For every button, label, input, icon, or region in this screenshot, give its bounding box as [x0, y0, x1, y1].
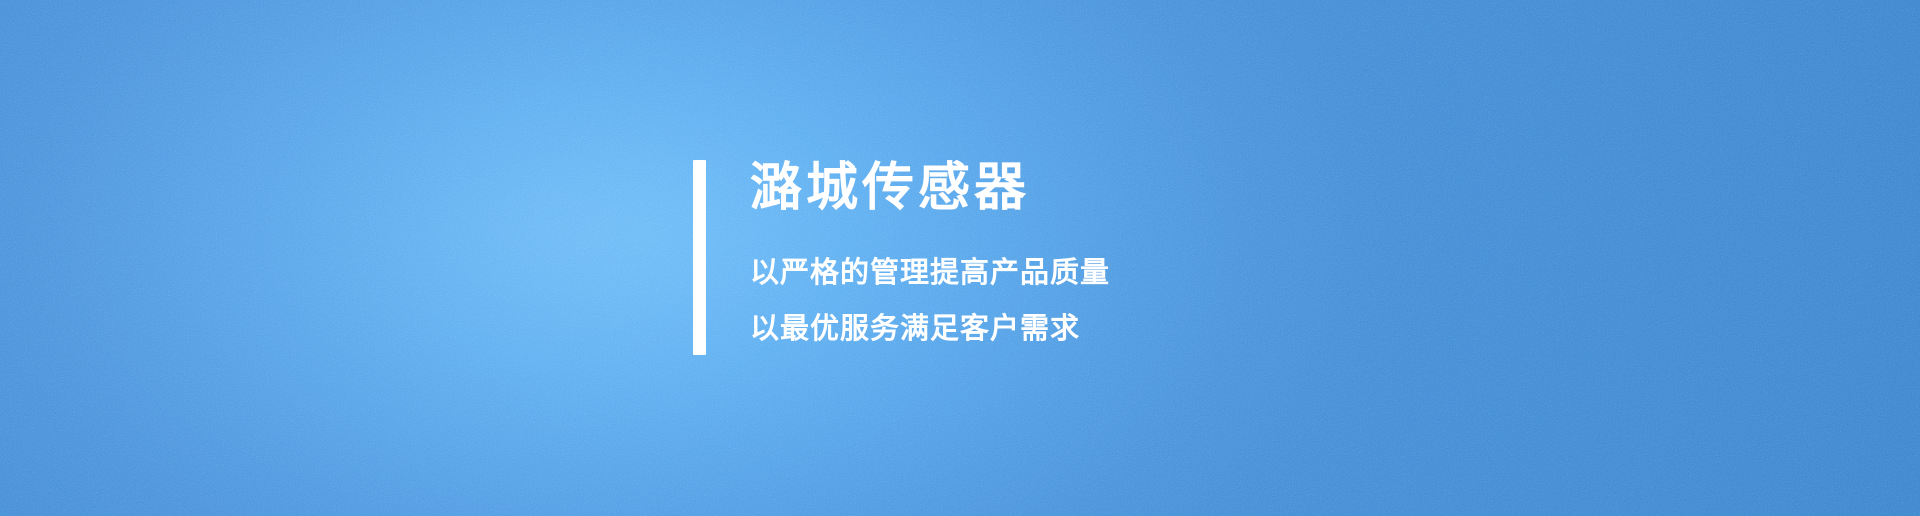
slogan-line-1: 以严格的管理提高产品质量: [750, 259, 1110, 288]
hero-banner: 潞城传感器 以严格的管理提高产品质量 以最优服务满足客户需求: [0, 0, 1920, 516]
banner-text-block: 潞城传感器 以严格的管理提高产品质量 以最优服务满足客户需求: [706, 160, 1110, 355]
slogan-line-2: 以最优服务满足客户需求: [750, 315, 1110, 344]
accent-bar: [693, 160, 706, 355]
company-title: 潞城传感器: [750, 160, 1110, 214]
banner-content: 潞城传感器 以严格的管理提高产品质量 以最优服务满足客户需求: [693, 160, 1110, 355]
